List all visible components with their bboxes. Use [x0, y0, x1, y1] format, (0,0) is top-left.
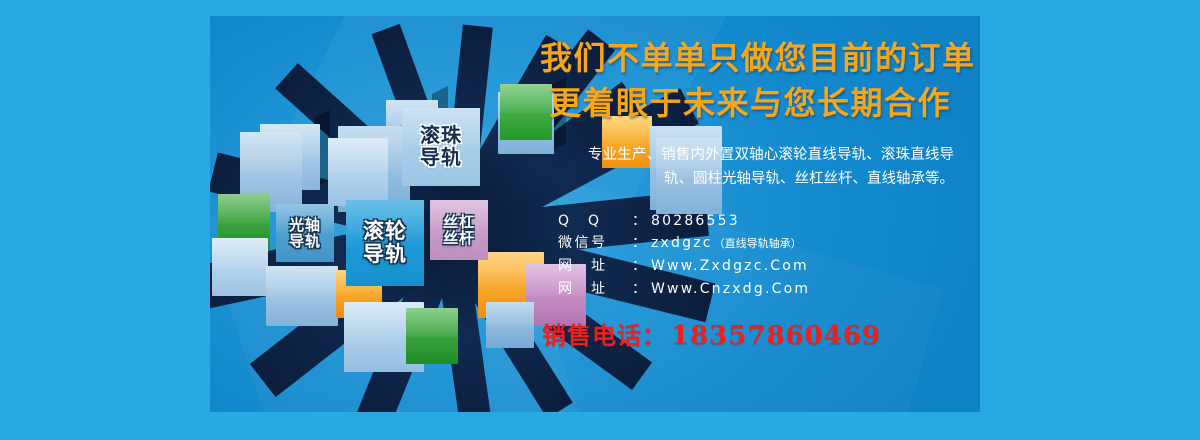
- contact-label: 网 址: [558, 255, 632, 278]
- decor-cube-green: [406, 308, 458, 364]
- contact-label: 网 址: [558, 278, 632, 301]
- banner-panel: 滚珠 导轨 光轴 导轨 滚轮 导轨 丝杠 丝杆 我们不单单只做您目: [210, 16, 980, 412]
- description-text: 专业生产、销售内外置双轴心滚轮直线导轨、滚珠直线导轨、圆柱光轴导轨、丝杠丝杆、直…: [540, 143, 960, 192]
- contact-row-wechat: 微信号 ： zxdgzc （直线导轨轴承）: [558, 232, 960, 255]
- decor-cube: [212, 238, 268, 296]
- product-cube-label-line1: 光轴: [289, 217, 321, 233]
- decor-cube: [486, 302, 534, 348]
- contact-block: Q Q ： 80286553 微信号 ： zxdgzc （直线导轨轴承） 网 址…: [540, 210, 960, 301]
- product-cube-label-line1: 滚珠: [420, 125, 462, 147]
- product-cube-label-line2: 导轨: [289, 233, 321, 249]
- product-cube-label-line1: 滚轮: [363, 220, 407, 243]
- contact-colon: ：: [632, 232, 646, 255]
- banner-content: 我们不单单只做您目前的订单 更着眼于未来与您长期合作 专业生产、销售内外置双轴心…: [540, 36, 960, 392]
- sales-phone[interactable]: 销售电话： 18357860469: [540, 316, 960, 351]
- decor-cube: [328, 138, 388, 206]
- product-cube-sigang-sigan[interactable]: 丝杠 丝杆: [430, 200, 488, 260]
- contact-row-website-1: 网 址 ： Www.Zxdgzc.Com: [558, 255, 960, 278]
- contact-label: 微信号: [558, 232, 632, 255]
- product-cube-label-line1: 丝杠: [443, 214, 475, 230]
- contact-colon: ：: [632, 255, 646, 278]
- product-cube-label-line2: 丝杆: [443, 230, 475, 246]
- contact-note: （直线导轨轴承）: [714, 235, 802, 253]
- website-link[interactable]: Www.Zxdgzc.Com: [651, 255, 809, 278]
- product-cube-gunlun-daogui[interactable]: 滚轮 导轨: [346, 200, 424, 286]
- sales-phone-number[interactable]: 18357860469: [671, 321, 881, 351]
- contact-colon: ：: [632, 278, 646, 301]
- headline-line-1: 我们不单单只做您目前的订单: [540, 36, 960, 81]
- promo-banner: 滚珠 导轨 光轴 导轨 滚轮 导轨 丝杠 丝杆 我们不单单只做您目: [0, 0, 1200, 440]
- product-cube-label-line2: 导轨: [420, 147, 462, 169]
- product-cube-guangzhou-daogui[interactable]: 光轴 导轨: [276, 204, 334, 262]
- contact-label: Q Q: [558, 210, 632, 233]
- product-cube-label-line2: 导轨: [363, 243, 407, 266]
- contact-row-website-2: 网 址 ： Www.Cnzxdg.Com: [558, 278, 960, 301]
- sales-phone-label: 销售电话：: [542, 316, 667, 351]
- contact-colon: ：: [632, 210, 646, 233]
- contact-row-qq: Q Q ： 80286553: [558, 210, 960, 233]
- decor-cube: [266, 266, 338, 326]
- contact-value[interactable]: zxdgzc: [651, 232, 713, 255]
- contact-value[interactable]: 80286553: [651, 210, 740, 233]
- headline: 我们不单单只做您目前的订单 更着眼于未来与您长期合作: [540, 36, 960, 127]
- website-link[interactable]: Www.Cnzxdg.Com: [651, 278, 810, 301]
- product-cube-gunzhu-daogui[interactable]: 滚珠 导轨: [402, 108, 480, 186]
- headline-line-2: 更着眼于未来与您长期合作: [540, 81, 960, 126]
